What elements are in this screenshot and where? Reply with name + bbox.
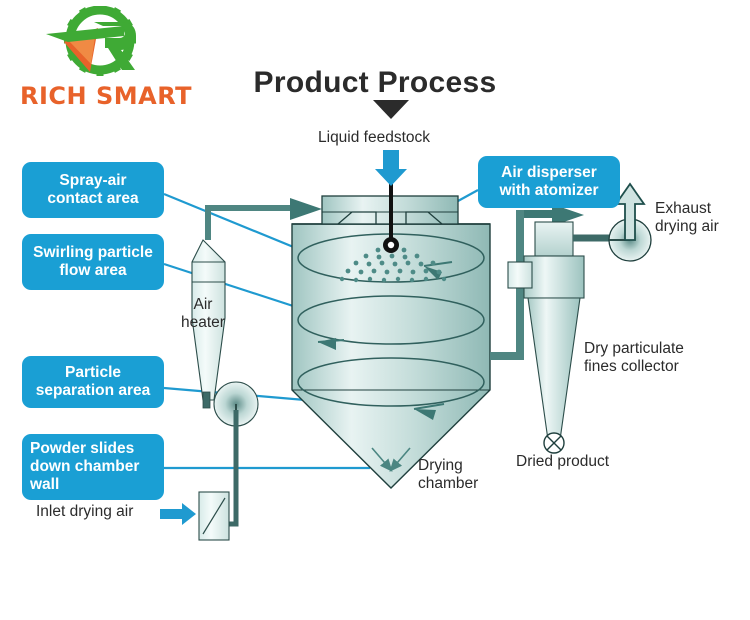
air-disperser-with-atomizer bbox=[322, 196, 458, 224]
atomizer-shaft bbox=[383, 180, 399, 253]
drying-chamber bbox=[292, 224, 490, 488]
callout-powder-slides-down-chamber-wall[interactable]: Powder slides down chamber wall bbox=[22, 434, 164, 500]
label-drying-chamber: Drying chamber bbox=[418, 457, 478, 493]
wall-slide-arrows bbox=[372, 448, 410, 470]
inlet-drying-air-arrow bbox=[160, 503, 196, 525]
hot-air-duct bbox=[208, 198, 322, 240]
label-air-heater: Air heater bbox=[170, 296, 236, 332]
blower-fan bbox=[214, 382, 258, 426]
inlet-air-duct bbox=[214, 410, 236, 524]
callout-particle-separation-area[interactable]: Particle separation area bbox=[22, 356, 164, 408]
exhaust-drying-air-arrow bbox=[616, 184, 644, 240]
inlet-damper bbox=[199, 492, 229, 540]
callout-spray-air-contact-area[interactable]: Spray-air contact area bbox=[22, 162, 164, 218]
label-exhaust-drying-air: Exhaust drying air bbox=[655, 200, 719, 236]
label-fines-collector: Dry particulate fines collector bbox=[584, 340, 684, 376]
cyclone-fines-collector bbox=[508, 222, 584, 453]
callout-air-disperser-with-atomizer[interactable]: Air disperser with atomizer bbox=[478, 156, 620, 208]
label-inlet-drying-air: Inlet drying air bbox=[36, 503, 133, 521]
chamber-to-cyclone-duct bbox=[490, 204, 584, 356]
callout-swirling-particle-flow-area[interactable]: Swirling particle flow area bbox=[22, 234, 164, 290]
label-liquid-feedstock: Liquid feedstock bbox=[318, 129, 430, 147]
page-title: Product Process bbox=[0, 66, 750, 100]
spray-droplets bbox=[340, 247, 446, 283]
label-dried-product: Dried product bbox=[516, 453, 609, 471]
exhaust-fan bbox=[573, 219, 651, 261]
